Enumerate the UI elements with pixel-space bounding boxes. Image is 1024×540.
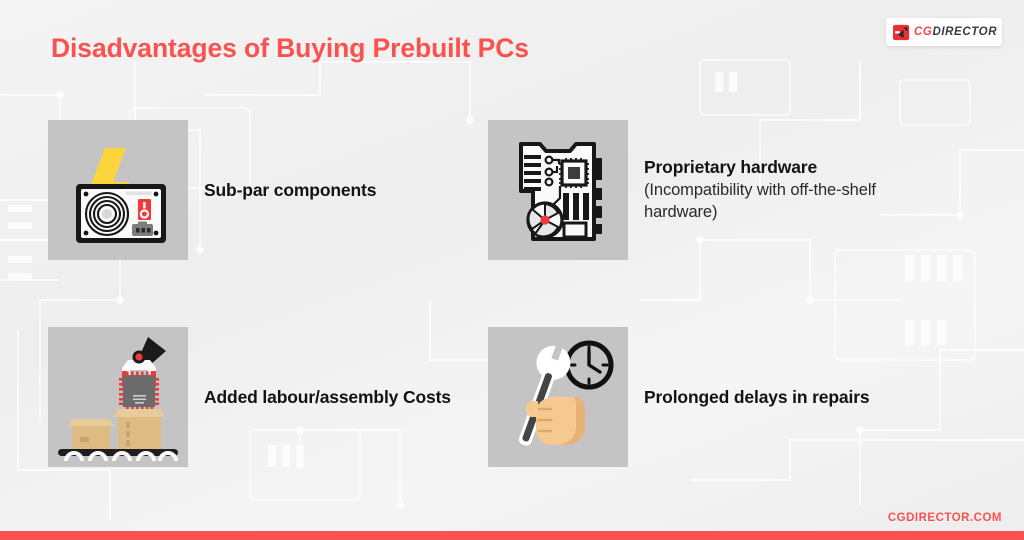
assembly-line-robot-icon [48,327,188,467]
card-title: Added labour/assembly Costs [204,386,451,409]
motherboard-icon [488,120,628,260]
card-title: Prolonged delays in repairs [644,386,869,409]
card-added-labour-costs: Added labour/assembly Costs [48,327,451,467]
card-text: Prolonged delays in repairs [644,386,869,409]
card-title: Sub-par components [204,179,376,202]
card-subtitle: (Incompatibility with off-the-shelf hard… [644,180,934,224]
footer-accent-bar [0,531,1024,540]
footer-website[interactable]: CGDIRECTOR.COM [888,512,1002,524]
card-prolonged-delays: Prolonged delays in repairs [488,327,869,467]
logo-wordmark: CGDIRECTOR [914,26,997,38]
card-text: Sub-par components [204,179,376,202]
card-sub-par-components: Sub-par components [48,120,376,260]
card-text: Proprietary hardware (Incompatibility wi… [644,156,934,223]
cgdirector-logo-mark [893,24,910,41]
card-text: Added labour/assembly Costs [204,386,451,409]
power-supply-unit-icon [48,120,188,260]
cgdirector-logo[interactable]: CGDIRECTOR [886,18,1002,46]
card-title: Proprietary hardware [644,156,934,179]
card-proprietary-hardware: Proprietary hardware (Incompatibility wi… [488,120,934,260]
logo-text-director: DIRECTOR [932,26,997,38]
cards-grid: Sub-par components [0,0,1024,540]
wrench-clock-repair-icon [488,327,628,467]
logo-text-cg: CG [914,26,932,38]
